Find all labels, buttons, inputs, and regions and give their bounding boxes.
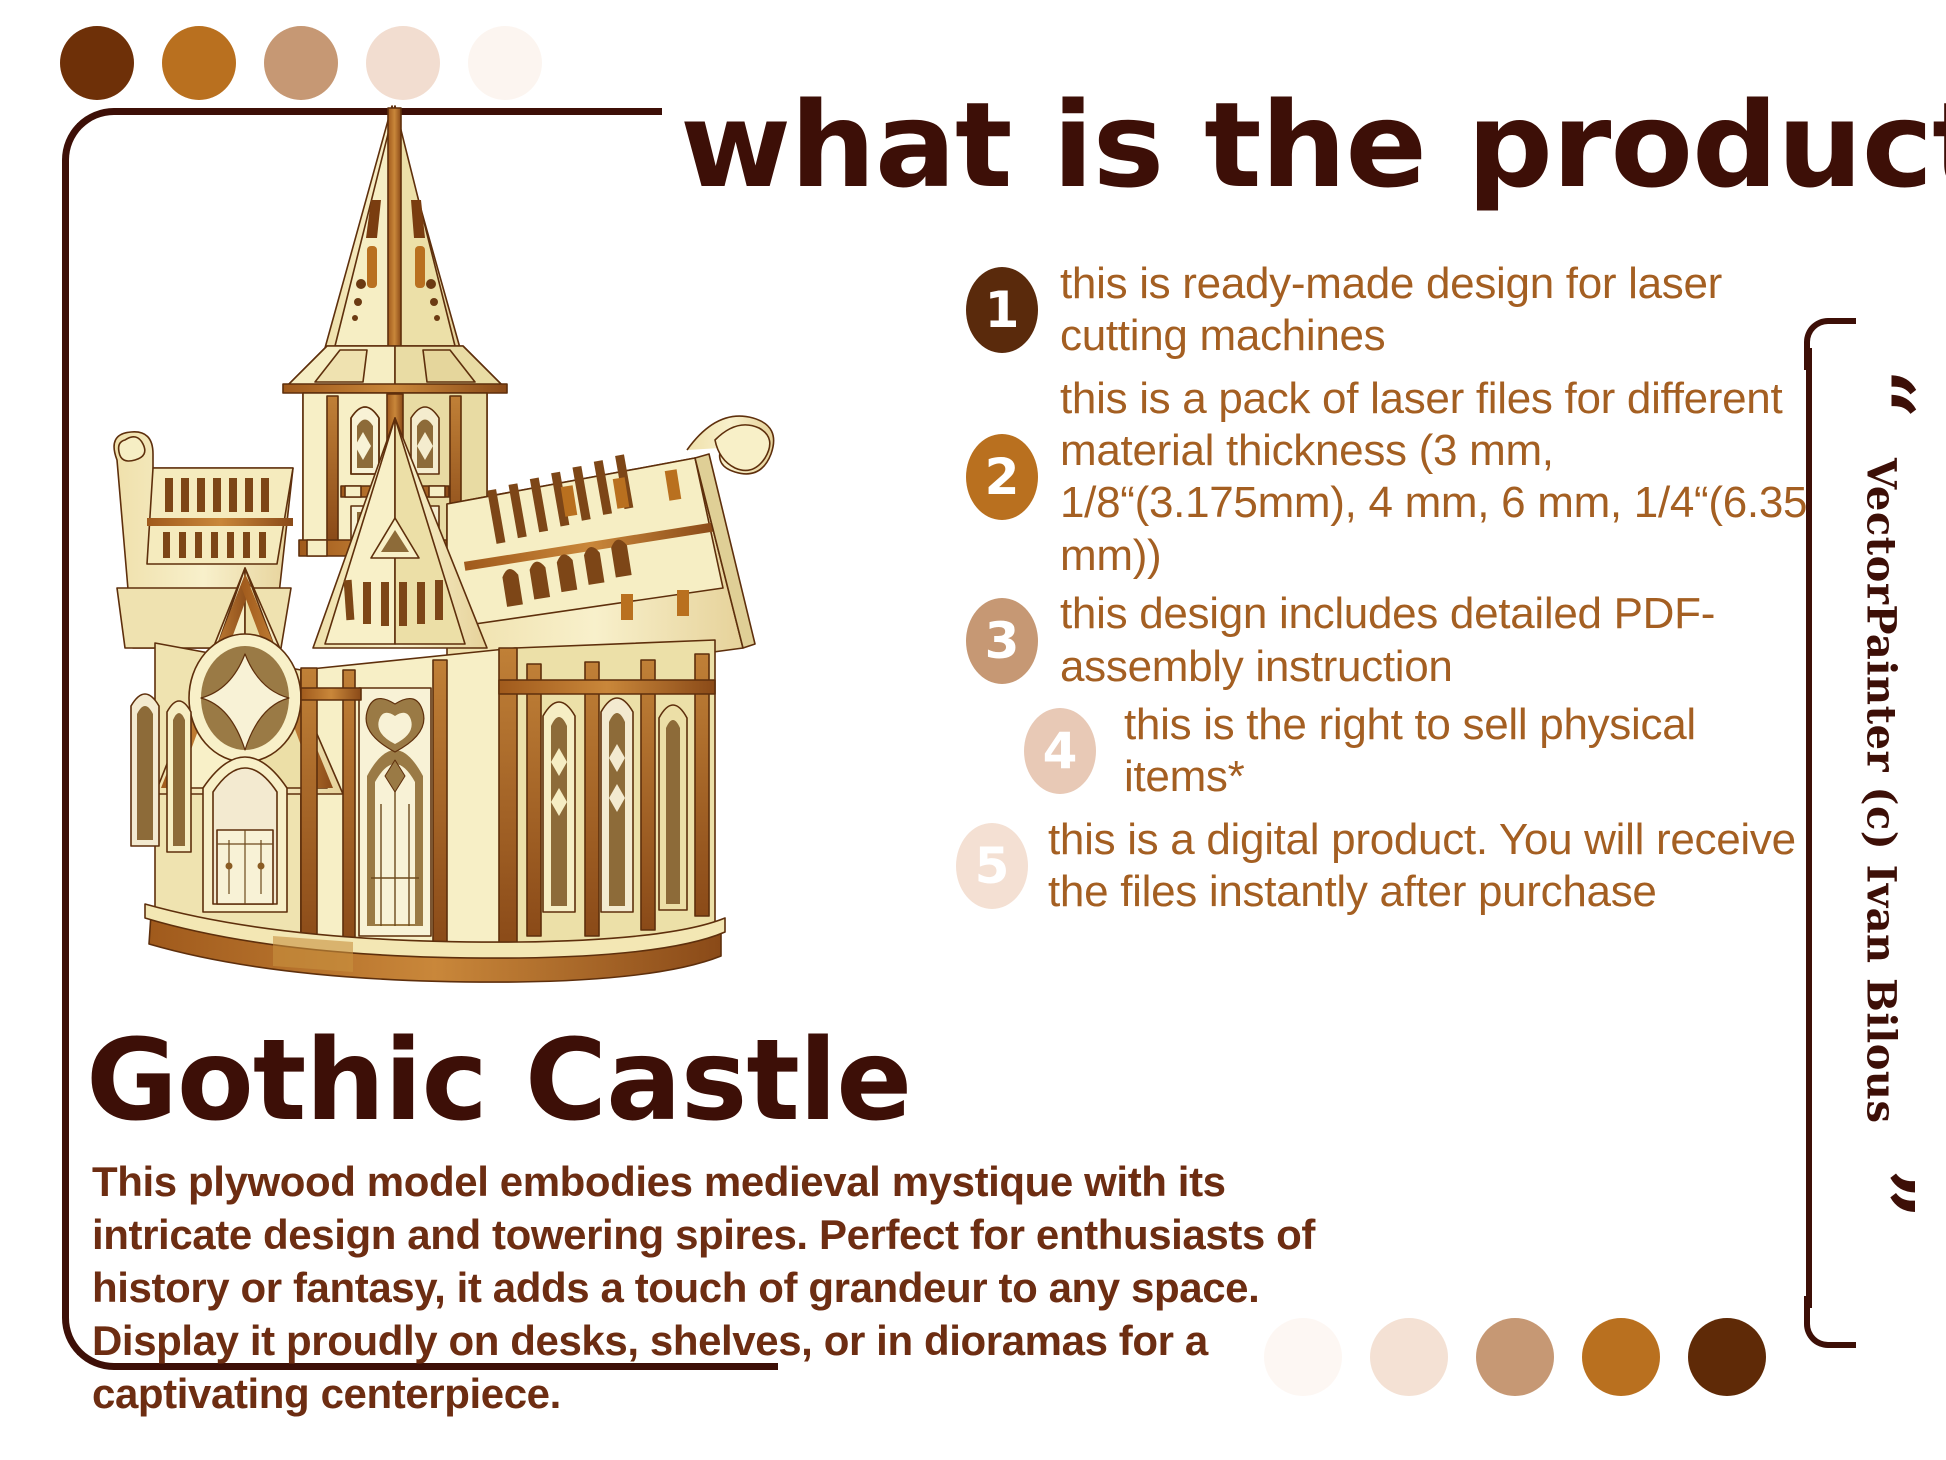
credit-block: “ VectorPainter (c) Ivan Bilous ”: [1836, 360, 1926, 1300]
list-number-badge: 5: [956, 823, 1028, 909]
list-item-text: this is the right to sell physical items…: [1124, 699, 1826, 804]
list-number-badge: 1: [966, 267, 1038, 353]
list-item: 2 this is a pack of laser files for diff…: [966, 373, 1826, 582]
list-number-badge: 3: [966, 598, 1038, 684]
list-item-text: this is ready-made design for laser cutt…: [1060, 258, 1826, 363]
palette-swatches-bottom: [1264, 1318, 1766, 1396]
feature-list: 1 this is ready-made design for laser cu…: [966, 258, 1826, 924]
list-item-text: this design includes detailed PDF-assemb…: [1060, 588, 1826, 693]
gothic-castle-illustration: [95, 88, 835, 1028]
list-item: 4 this is the right to sell physical ite…: [1024, 699, 1826, 804]
poster-canvas: what is the product 1 this is ready-made…: [0, 0, 1946, 1460]
palette-swatch: [1476, 1318, 1554, 1396]
palette-swatch: [1582, 1318, 1660, 1396]
list-item-text: this is a digital product. You will rece…: [1048, 814, 1826, 919]
credit-text: VectorPainter (c) Ivan Bilous: [1858, 458, 1905, 1124]
product-title: Gothic Castle: [86, 1016, 911, 1146]
quote-close-icon: ”: [1851, 1169, 1911, 1218]
palette-swatch: [1264, 1318, 1342, 1396]
list-item: 5 this is a digital product. You will re…: [956, 814, 1826, 919]
list-number-badge: 4: [1024, 708, 1096, 794]
product-description: This plywood model embodies medieval mys…: [92, 1156, 1392, 1421]
quote-open-icon: “: [1851, 369, 1911, 418]
bracket-bottom-curve: [1804, 1296, 1856, 1348]
page-title: what is the product: [680, 86, 1935, 204]
palette-swatch: [1688, 1318, 1766, 1396]
list-number-badge: 2: [966, 434, 1038, 520]
list-item: 3 this design includes detailed PDF-asse…: [966, 588, 1826, 693]
palette-swatch: [1370, 1318, 1448, 1396]
list-item-text: this is a pack of laser files for differ…: [1060, 373, 1826, 582]
list-item: 1 this is ready-made design for laser cu…: [966, 258, 1826, 363]
